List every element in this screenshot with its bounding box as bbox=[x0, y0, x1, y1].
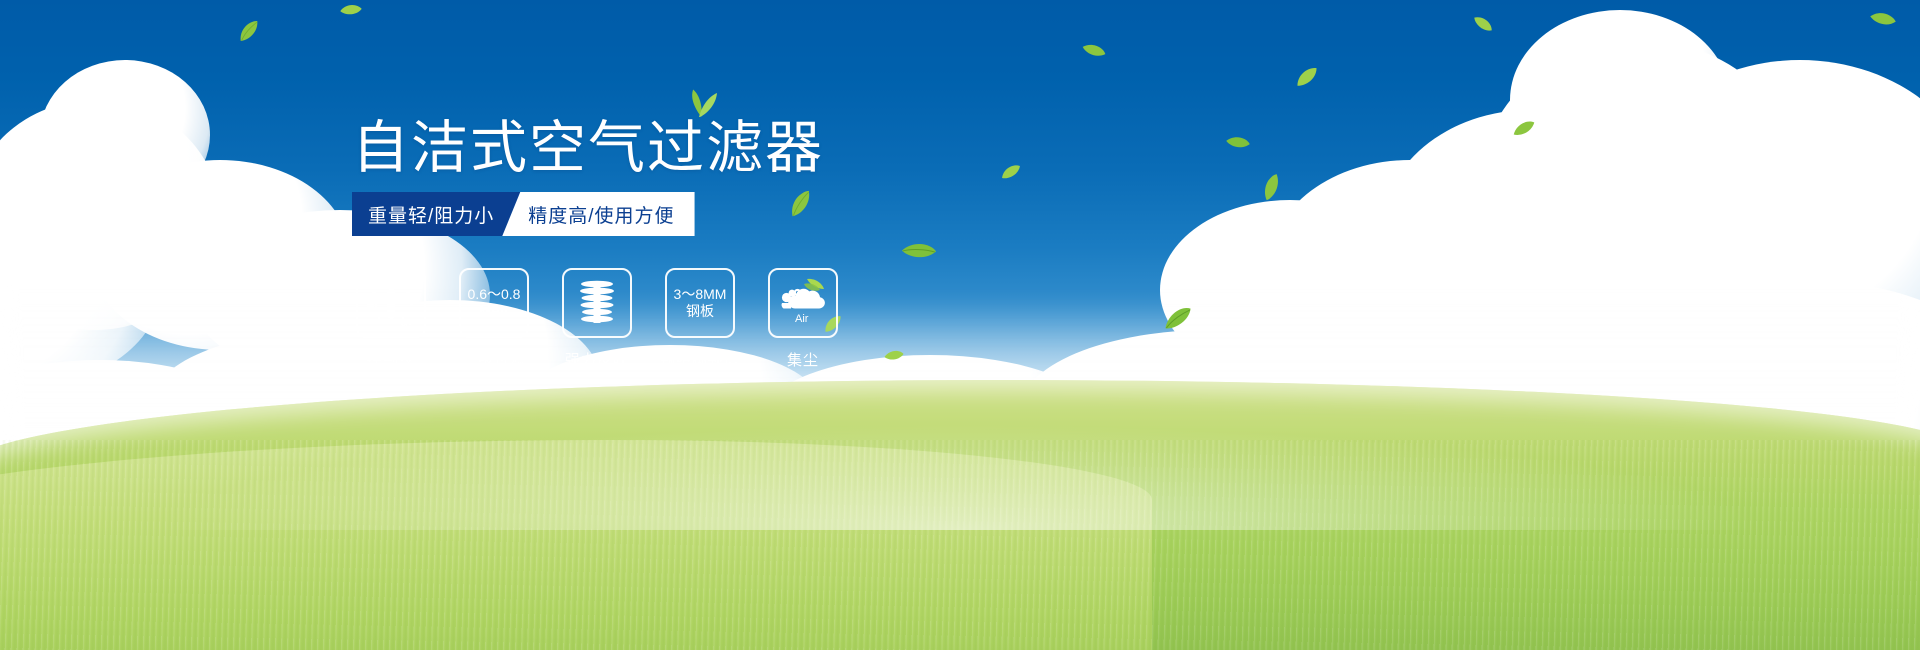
feature-item-steel-strength: 3～8MM 钢板 钢结构强度 bbox=[664, 268, 736, 370]
feature-badges: 重量轻/阻力小 精度高/使用方便 bbox=[352, 192, 695, 236]
page-title: 自洁式空气过滤器 bbox=[352, 116, 824, 180]
pressure-text-icon: 0.6～0.8 MPA bbox=[459, 268, 529, 338]
pressure-line-1: 0.6～0.8 bbox=[468, 286, 521, 303]
feature-item-two-stage-filter: 0.6～0.8 MPA 二级过滤 bbox=[458, 268, 530, 370]
feature-item-controller: NO OFF 控制仪 bbox=[355, 268, 427, 370]
dial-on-label: NO bbox=[367, 303, 377, 310]
product-banner: 自洁式空气过滤器 重量轻/阻力小 精度高/使用方便 bbox=[0, 0, 1920, 650]
feature-item-dust-collection: Air 集尘 bbox=[767, 268, 839, 370]
feature-label: 控制仪 bbox=[367, 349, 415, 370]
steel-plate-text-icon: 3～8MM 钢板 bbox=[665, 268, 735, 338]
feature-label: 二级过滤 bbox=[462, 349, 526, 370]
feature-label: 强力反吹 bbox=[565, 349, 629, 370]
filter-stack-icon bbox=[562, 268, 632, 338]
gauge-dial-icon: NO OFF bbox=[356, 268, 426, 338]
steel-line-2: 钢板 bbox=[674, 303, 727, 320]
air-cloud-icon: Air bbox=[768, 268, 838, 338]
pressure-line-2: MPA bbox=[468, 303, 521, 320]
feature-icon-row: NO OFF 控制仪 0.6～0.8 MPA 二级过滤 bbox=[355, 268, 839, 370]
feature-label: 钢结构强度 bbox=[660, 349, 740, 370]
badge-precision-ease: 精度高/使用方便 bbox=[502, 192, 694, 236]
steel-line-1: 3～8MM bbox=[674, 286, 727, 303]
feature-item-pulse-blowback: 强力反吹 bbox=[561, 268, 633, 370]
feature-label: 集尘 bbox=[787, 349, 819, 370]
air-label: Air bbox=[795, 313, 809, 325]
banner-content: 自洁式空气过滤器 重量轻/阻力小 精度高/使用方便 bbox=[0, 0, 1920, 650]
badge-weight-resistance: 重量轻/阻力小 bbox=[352, 192, 520, 236]
dial-off-label: OFF bbox=[401, 322, 413, 328]
